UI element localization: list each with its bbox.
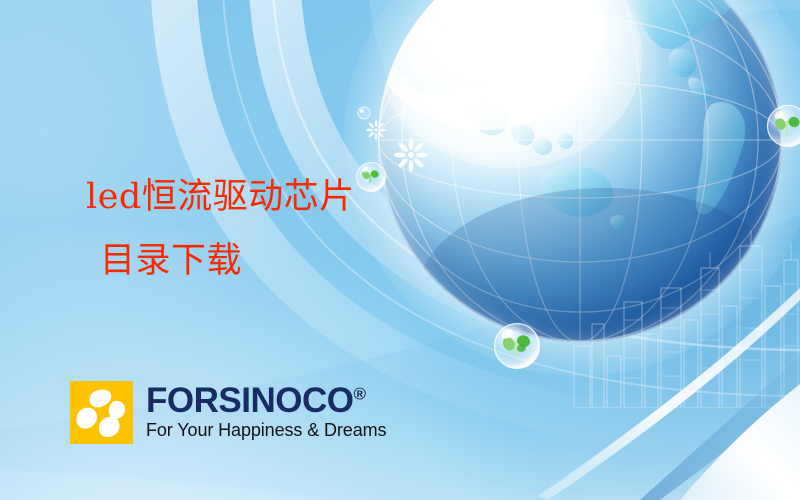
logo-text: FORSINOCO® For Your Happiness & Dreams xyxy=(146,383,386,441)
registered-trademark-icon: ® xyxy=(353,384,365,403)
logo-mark xyxy=(70,381,133,444)
logo-tagline: For Your Happiness & Dreams xyxy=(146,420,386,441)
starburst-icon xyxy=(366,120,386,140)
headline-line-2: 目录下载 xyxy=(100,229,506,293)
headline: led恒流驱动芯片 目录下载 xyxy=(86,165,506,293)
four-petal-flower-icon xyxy=(70,381,133,444)
promo-banner: led恒流驱动芯片 目录下载 FORSINOCO® For Your Happ xyxy=(0,0,800,500)
plain-bubble-icon xyxy=(357,106,371,120)
brand-logo: FORSINOCO® For Your Happiness & Dreams xyxy=(70,381,386,444)
headline-line-1: led恒流驱动芯片 xyxy=(86,165,506,229)
logo-wordmark: FORSINOCO® xyxy=(146,383,386,419)
sprout-bubble-icon xyxy=(493,322,541,370)
logo-wordmark-text: FORSINOCO xyxy=(146,381,353,420)
